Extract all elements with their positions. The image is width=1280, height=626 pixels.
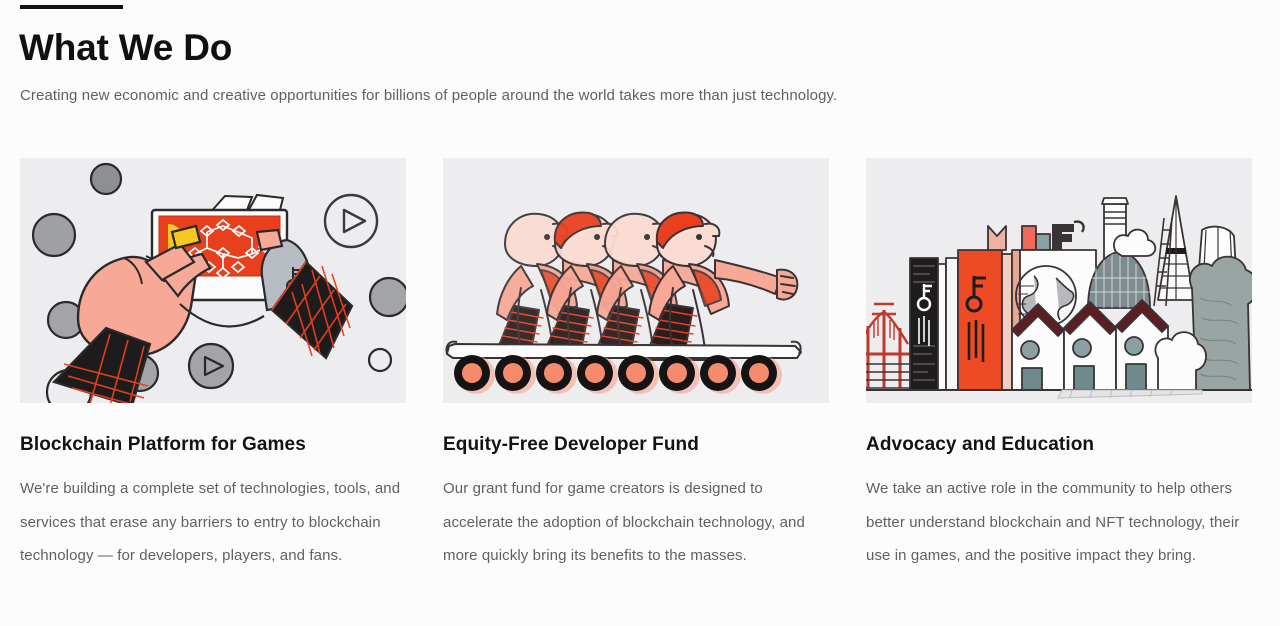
card-equity-free-developer-fund[interactable]: Equity-Free Developer Fund Our grant fun…: [443, 158, 829, 573]
illustration-four-people-pushing-rolling-platform: [443, 158, 829, 403]
top-divider-rule: [20, 5, 123, 9]
what-we-do-section: What We Do Creating new economic and cre…: [0, 0, 1280, 626]
page-title: What We Do: [19, 26, 232, 70]
card-title: Blockchain Platform for Games: [20, 433, 406, 457]
card-blockchain-platform-for-games[interactable]: Blockchain Platform for Games We're buil…: [20, 158, 406, 573]
card-title: Advocacy and Education: [866, 433, 1252, 457]
card-body: Our grant fund for game creators is desi…: [443, 472, 833, 573]
card-body: We're building a complete set of technol…: [20, 472, 410, 573]
card-body: We take an active role in the community …: [866, 472, 1260, 573]
card-title: Equity-Free Developer Fund: [443, 433, 829, 457]
illustration-hands-holding-tablet-with-blockchain-network: [20, 158, 406, 403]
illustration-cityscape-with-books-buildings-and-trees: [866, 158, 1252, 403]
card-advocacy-and-education[interactable]: Advocacy and Education We take an active…: [866, 158, 1252, 573]
page-subtitle: Creating new economic and creative oppor…: [20, 85, 837, 107]
